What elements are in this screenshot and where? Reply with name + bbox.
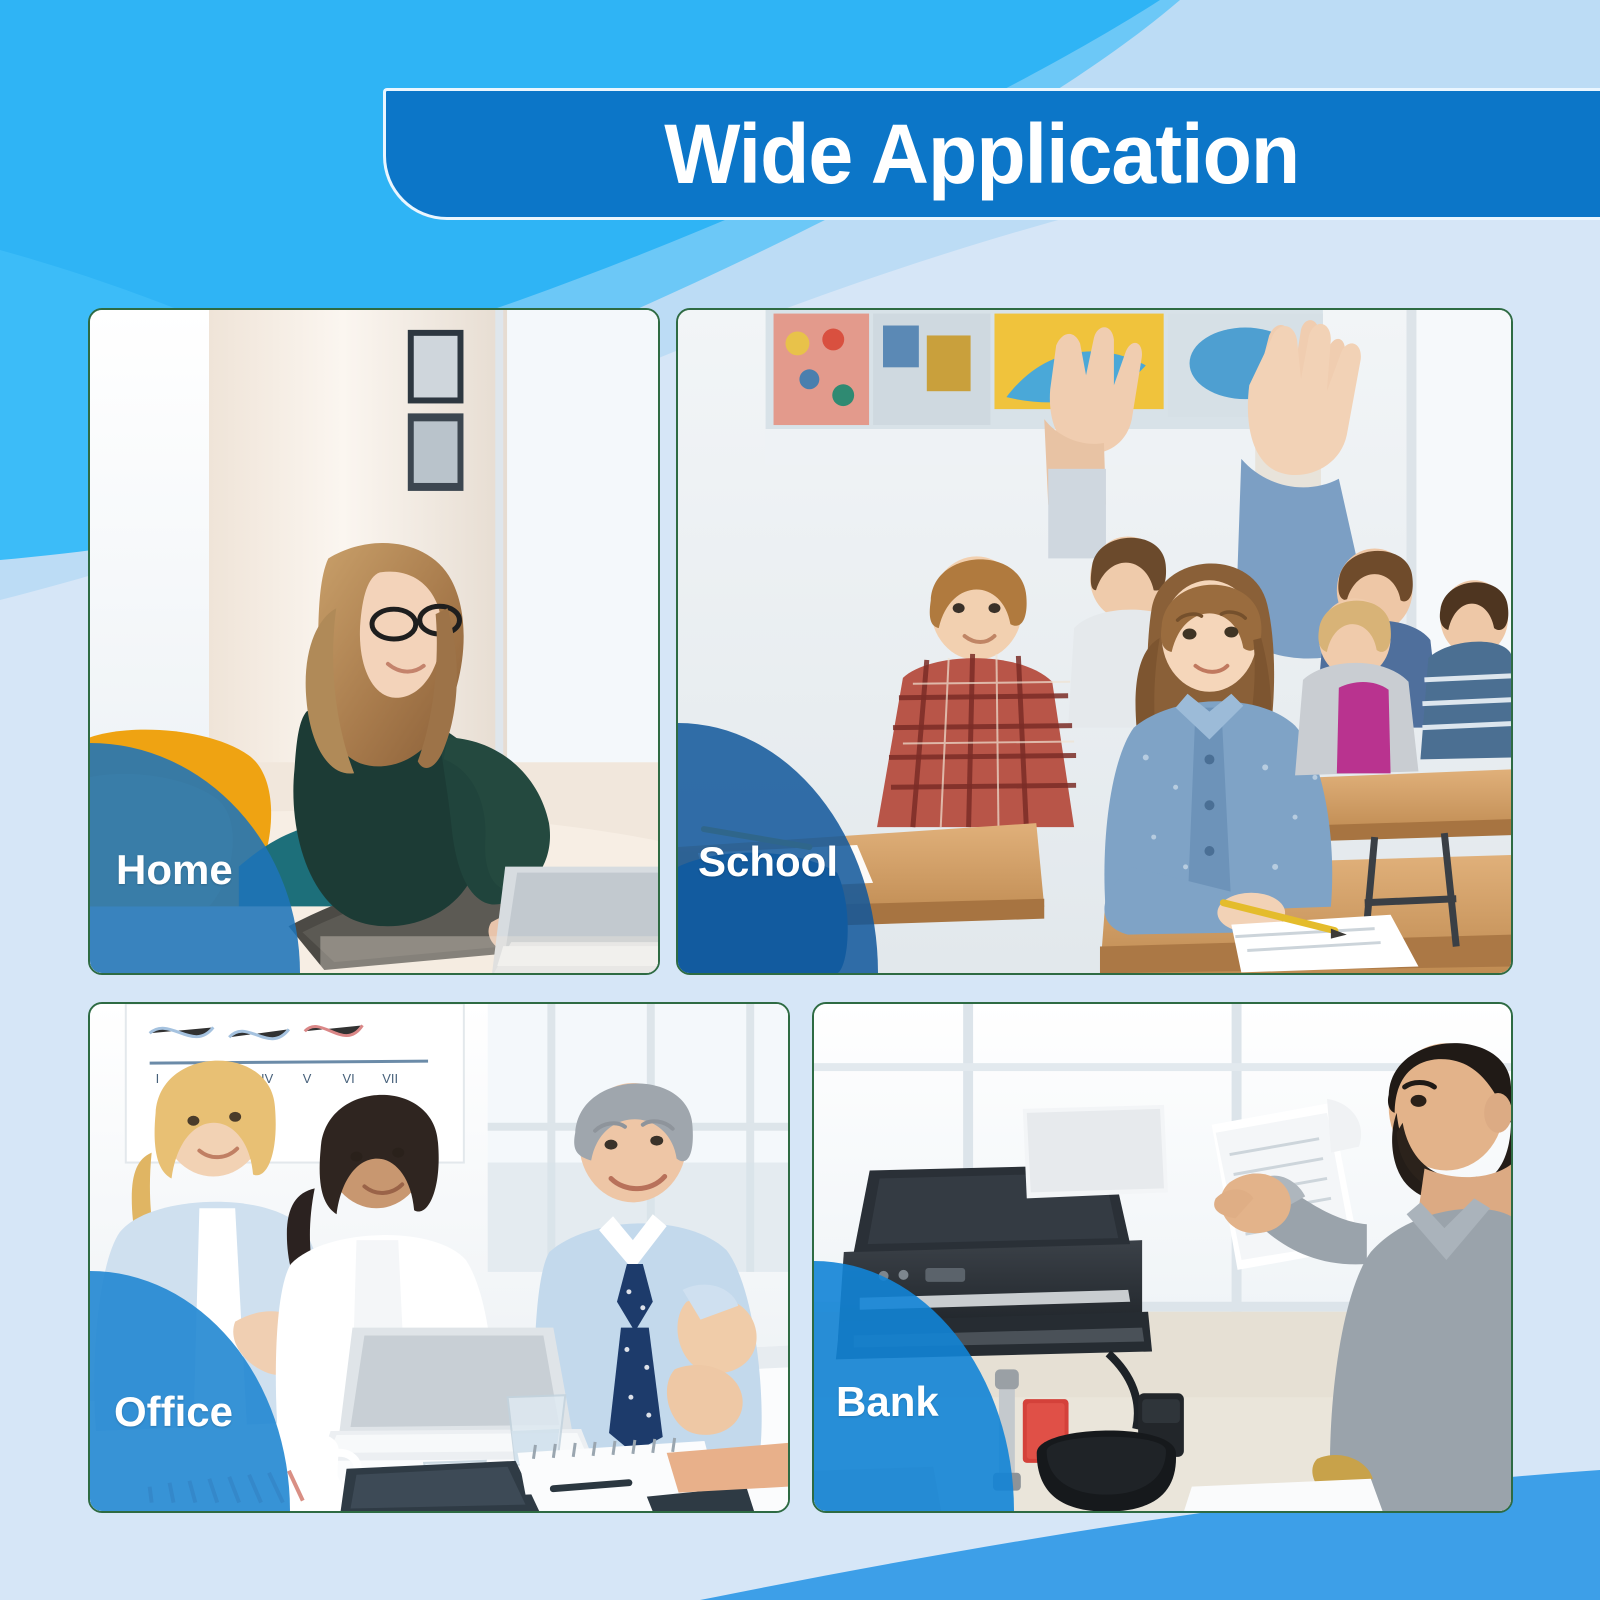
panel-label-bank: Bank [836, 1381, 939, 1423]
panel-bank: Bank [812, 1002, 1513, 1513]
panel-label-office: Office [114, 1391, 233, 1433]
infographic-canvas: Wide Application [0, 0, 1600, 1600]
page-title: Wide Application [664, 112, 1299, 196]
panel-school: School [676, 308, 1513, 975]
panel-home: Home [88, 308, 660, 975]
svg-text:VII: VII [382, 1071, 398, 1086]
title-banner: Wide Application [383, 88, 1600, 220]
svg-text:VI: VI [343, 1071, 355, 1086]
panel-label-home: Home [116, 849, 233, 891]
panel-office: IIIIII IVVVI VII [88, 1002, 790, 1513]
svg-text:V: V [303, 1071, 312, 1086]
panel-label-school: School [698, 841, 838, 883]
svg-text:I: I [156, 1071, 160, 1086]
